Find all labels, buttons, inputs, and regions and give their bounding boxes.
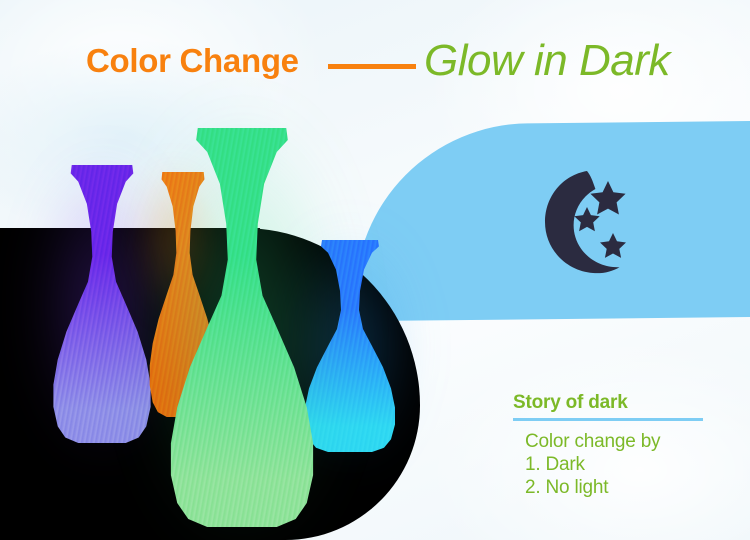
story-lines: Color change by1. Dark2. No light [525, 430, 743, 499]
story-block: Story of dark Color change by1. Dark2. N… [513, 392, 743, 499]
story-underline [513, 418, 703, 421]
promo-banner: Color Change Glow in Dark Story of dark … [0, 0, 750, 540]
moon-and-stars-icon [525, 163, 637, 281]
story-line: 2. No light [525, 476, 743, 499]
headline-left-text: Color Change [86, 38, 299, 84]
background-haze-top-left [0, 0, 330, 220]
headline: Color Change Glow in Dark [0, 38, 750, 98]
headline-divider-rule [328, 64, 416, 69]
story-line: 1. Dark [525, 453, 743, 476]
story-line: Color change by [525, 430, 743, 453]
story-title: Story of dark [513, 392, 743, 414]
headline-right-text: Glow in Dark [424, 31, 670, 91]
